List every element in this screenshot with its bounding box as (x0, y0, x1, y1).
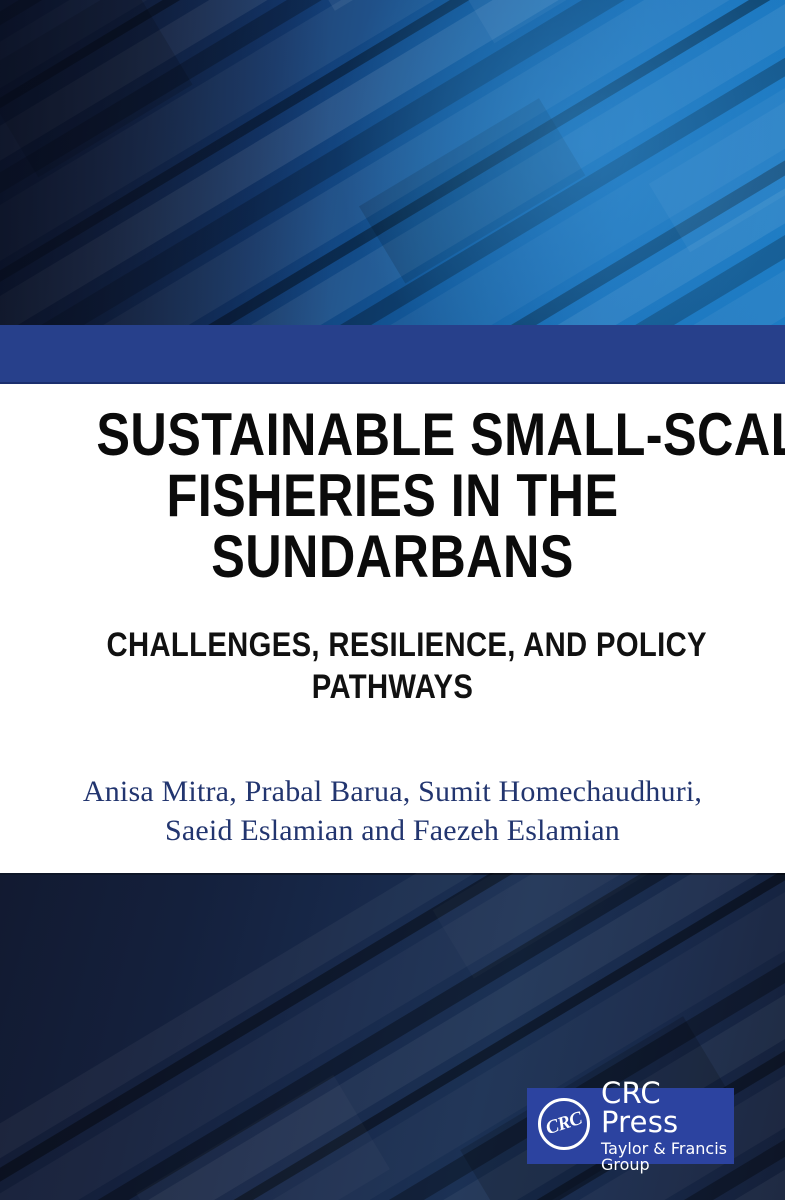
author-line-1: Anisa Mitra, Prabal Barua, Sumit Homecha… (55, 772, 730, 811)
title-line-2: FISHERIES IN THE (96, 465, 688, 526)
subtitle-line-2: PATHWAYS (107, 666, 679, 708)
book-authors: Anisa Mitra, Prabal Barua, Sumit Homecha… (55, 772, 730, 850)
book-cover: SUSTAINABLE SMALL-SCALE FISHERIES IN THE… (0, 0, 785, 1200)
book-title: SUSTAINABLE SMALL-SCALE FISHERIES IN THE… (96, 404, 688, 587)
accent-band (0, 325, 785, 383)
book-subtitle: CHALLENGES, RESILIENCE, AND POLICY PATHW… (107, 624, 679, 708)
author-line-2: Saeid Eslamian and Faezeh Eslamian (55, 811, 730, 850)
publisher-group: Taylor & Francis Group (601, 1141, 734, 1173)
title-line-3: SUNDARBANS (96, 526, 688, 587)
crc-roundel-icon: CRC (538, 1098, 594, 1154)
publisher-name: CRC Press (601, 1079, 734, 1137)
subtitle-line-1: CHALLENGES, RESILIENCE, AND POLICY (107, 624, 679, 666)
crc-monogram: CRC (531, 1091, 597, 1157)
crc-press-logo: CRC CRC Press Taylor & Francis Group (527, 1088, 734, 1164)
top-abstract-artwork (0, 0, 785, 325)
title-line-1: SUSTAINABLE SMALL-SCALE (96, 404, 688, 465)
publisher-text: CRC Press Taylor & Francis Group (601, 1079, 734, 1173)
top-diagonal-stripes (0, 0, 785, 325)
title-panel: SUSTAINABLE SMALL-SCALE FISHERIES IN THE… (0, 384, 785, 873)
